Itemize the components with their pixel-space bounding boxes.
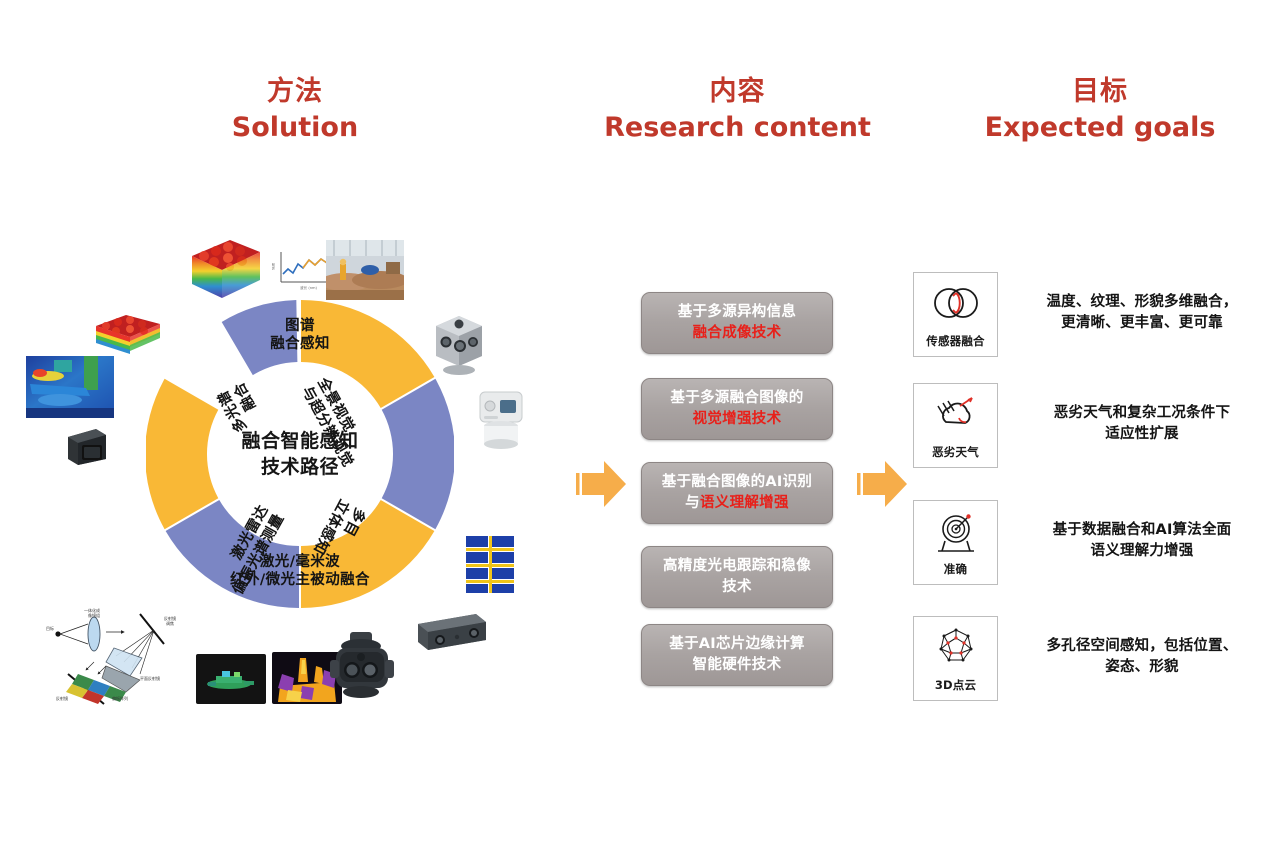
eo-ir-gimbal-turret-thumbnail bbox=[326, 630, 398, 706]
svg-text:波长 (nm): 波长 (nm) bbox=[300, 285, 318, 290]
goal-text-line2: 适应性扩展 bbox=[1105, 426, 1179, 442]
hyperspectral-cube-thumbnail bbox=[186, 234, 264, 306]
research-item-visual-enhancement[interactable]: 基于多源融合图像的 视觉增强技术 bbox=[641, 378, 833, 440]
goal-text-line1: 恶劣天气和复杂工况条件下 bbox=[1054, 405, 1230, 421]
column-header-goals-en: Expected goals bbox=[955, 112, 1245, 144]
column-header-content-en: Research content bbox=[600, 112, 875, 144]
research-item-line2-prefix: 智能硬件技术 bbox=[693, 657, 782, 673]
svg-text:强度: 强度 bbox=[272, 262, 275, 270]
research-item-highlight: 语义理解增强 bbox=[700, 495, 789, 511]
goal-text-line1: 基于数据融合和AI算法全面 bbox=[1053, 522, 1232, 538]
goal-text-line1: 多孔径空间感知，包括位置、 bbox=[1046, 638, 1237, 654]
thermal-infrared-image-thumbnail bbox=[26, 356, 114, 418]
sensor-instrument-device-thumbnail bbox=[474, 388, 528, 450]
column-header-solution-cn: 方法 bbox=[170, 76, 420, 108]
arrow-solution-to-content bbox=[574, 455, 630, 513]
goal-icon-caption: 传感器融合 bbox=[926, 333, 985, 349]
column-header-solution-en: Solution bbox=[170, 112, 420, 144]
goal-text-point-cloud-3d: 多孔径空间感知，包括位置、 姿态、形貌 bbox=[1036, 636, 1248, 678]
spectral-curve-plot-thumbnail: 强度 波长 (nm) bbox=[272, 248, 332, 294]
thermal-camera-device-thumbnail bbox=[62, 425, 110, 467]
goal-icon-box-severe-weather[interactable]: 恶劣天气 bbox=[913, 383, 998, 468]
research-item-ai-chip-edge-computing[interactable]: 基于AI芯片边缘计算 智能硬件技术 bbox=[641, 624, 833, 686]
goal-text-line2: 更清晰、更丰富、更可靠 bbox=[1061, 315, 1223, 331]
goal-icon-box-point-cloud-3d[interactable]: 3D点云 bbox=[913, 616, 998, 701]
lowlight-night-image-thumbnail bbox=[196, 654, 266, 704]
polarization-optics-diagram-thumbnail: 目标 一体化成 像镜组 反射镜 调焦 平面反射镜 反射镜 偏振阵列 bbox=[44, 596, 212, 708]
research-item-plain: 高精度光电跟踪和稳像 bbox=[663, 558, 811, 574]
goal-text-line2: 姿态、形貌 bbox=[1105, 659, 1179, 675]
goal-text-sensor-fusion: 温度、纹理、形貌多维融合， 更清晰、更丰富、更可靠 bbox=[1036, 292, 1248, 334]
goal-icon-caption: 恶劣天气 bbox=[932, 444, 979, 460]
wheel-label-line1: 图谱 bbox=[285, 318, 315, 334]
svg-text:目标: 目标 bbox=[46, 625, 54, 631]
research-item-multi-source-fusion-imaging[interactable]: 基于多源异构信息 融合成像技术 bbox=[641, 292, 833, 354]
research-item-plain: 基于融合图像的AI识别 bbox=[662, 474, 812, 490]
column-header-goals: 目标 Expected goals bbox=[955, 76, 1245, 144]
column-header-goals-cn: 目标 bbox=[955, 76, 1245, 108]
wheel-segment-multi-view-stereo[interactable] bbox=[382, 379, 454, 529]
arrow-content-to-goals bbox=[855, 455, 911, 513]
goal-icon-caption: 3D点云 bbox=[935, 677, 976, 693]
goal-icon-caption: 准确 bbox=[944, 561, 967, 577]
industrial-pipeline-photo-thumbnail bbox=[326, 240, 404, 300]
research-item-highlight: 融合成像技术 bbox=[693, 325, 782, 341]
infographic-canvas: 方法 Solution 内容 Research content 目标 Expec… bbox=[0, 0, 1268, 866]
wheel-label-line2: 融合感知 bbox=[270, 336, 330, 352]
svg-text:反射镜: 反射镜 bbox=[56, 695, 68, 701]
svg-text:偏振阵列: 偏振阵列 bbox=[112, 695, 128, 701]
svg-text:平面反射镜: 平面反射镜 bbox=[140, 675, 160, 681]
research-item-optoelectronic-tracking[interactable]: 高精度光电跟踪和稳像 技术 bbox=[641, 546, 833, 608]
research-item-highlight: 视觉增强技术 bbox=[693, 411, 782, 427]
goal-text-line2: 语义理解力增强 bbox=[1091, 543, 1194, 559]
research-item-plain: 基于AI芯片边缘计算 bbox=[669, 636, 805, 652]
goal-icon-box-sensor-fusion[interactable]: 传感器融合 bbox=[913, 272, 998, 357]
goal-icon-box-accuracy[interactable]: 准确 bbox=[913, 500, 998, 585]
wheel-label-spectral-fusion-sensing: 图谱 融合感知 bbox=[220, 318, 380, 353]
rain-cloud-icon bbox=[930, 392, 982, 440]
goal-text-line1: 温度、纹理、形貌多维融合， bbox=[1046, 294, 1237, 310]
research-item-line2-prefix: 技术 bbox=[722, 579, 752, 595]
solution-wheel: 图谱 融合感知 全景视觉 与超分辨视觉 多目 立体感知 激光/毫米波 红外/微光… bbox=[146, 300, 454, 608]
research-item-line2-prefix: 与 bbox=[685, 495, 700, 511]
goal-text-severe-weather: 恶劣天气和复杂工况条件下 适应性扩展 bbox=[1036, 403, 1248, 445]
wheel-label-line1: 激光/毫米波 bbox=[260, 554, 340, 570]
two-overlapping-circles-icon bbox=[930, 281, 982, 329]
wheel-segment-multispectral-fusion[interactable] bbox=[146, 379, 218, 529]
stereo-camera-bar-thumbnail bbox=[414, 608, 490, 654]
column-header-content-cn: 内容 bbox=[600, 76, 875, 108]
research-item-ai-recognition-semantic[interactable]: 基于融合图像的AI识别 与语义理解增强 bbox=[641, 462, 833, 524]
svg-text:调焦: 调焦 bbox=[166, 620, 174, 626]
structured-light-pattern-thumbnail bbox=[462, 532, 518, 596]
svg-text:像镜组: 像镜组 bbox=[88, 612, 100, 618]
research-item-plain: 基于多源异构信息 bbox=[678, 304, 796, 320]
polyhedron-point-cloud-icon bbox=[930, 625, 982, 673]
column-header-solution: 方法 Solution bbox=[170, 76, 420, 144]
goal-text-accuracy: 基于数据融合和AI算法全面 语义理解力增强 bbox=[1036, 520, 1248, 562]
research-item-plain: 基于多源融合图像的 bbox=[670, 390, 803, 406]
target-dartboard-icon bbox=[930, 509, 982, 557]
column-header-content: 内容 Research content bbox=[600, 76, 875, 144]
